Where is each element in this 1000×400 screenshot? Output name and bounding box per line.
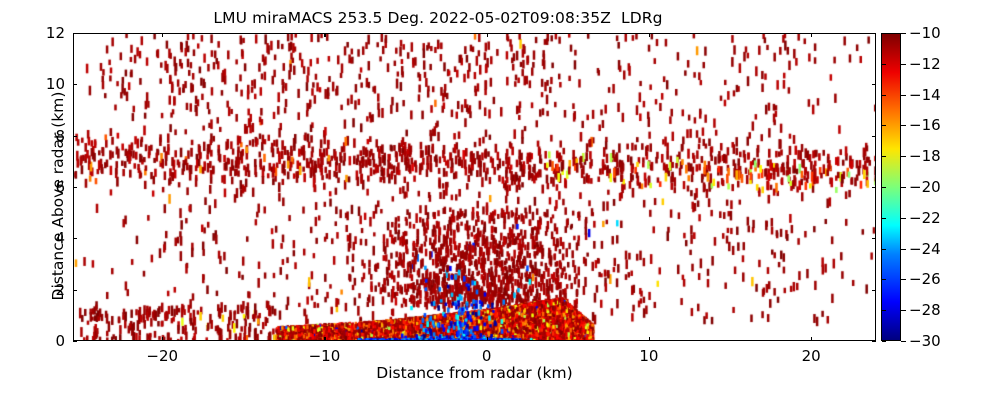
y-tick-mark	[73, 238, 77, 239]
x-tick-label: −10	[309, 347, 341, 365]
radar-rhi-figure: LMU miraMACS 253.5 Deg. 2022-05-02T09:08…	[0, 0, 1000, 400]
x-tick-mark	[324, 337, 325, 341]
colorbar-tick-label: −26	[909, 270, 941, 288]
y-tick-label: 12	[25, 24, 65, 42]
colorbar-tick-mark-outer	[901, 310, 906, 311]
y-tick-mark	[73, 136, 77, 137]
y-tick-mark	[73, 187, 77, 188]
x-tick-label: 10	[639, 347, 658, 365]
y-tick-mark-right	[872, 33, 876, 34]
colorbar-tick-label: −16	[909, 116, 941, 134]
colorbar-tick-label: −18	[909, 147, 941, 165]
colorbar-tick-mark	[882, 279, 886, 280]
colorbar-tick-mark-outer	[901, 249, 906, 250]
colorbar-tick-mark-outer	[901, 33, 906, 34]
y-tick-mark	[73, 290, 77, 291]
y-tick-mark-right	[872, 136, 876, 137]
y-tick-mark	[73, 84, 77, 85]
colorbar-tick-mark-outer	[901, 341, 906, 342]
colorbar-tick-mark-outer	[901, 187, 906, 188]
colorbar-tick-mark-outer	[901, 279, 906, 280]
colorbar-tick-mark	[882, 156, 886, 157]
colorbar-tick-label: −30	[909, 332, 941, 350]
colorbar-tick-label: −12	[909, 55, 941, 73]
colorbar-tick-label: −28	[909, 301, 941, 319]
x-tick-mark	[487, 337, 488, 341]
x-tick-mark	[162, 337, 163, 341]
x-tick-mark-top	[649, 33, 650, 37]
x-tick-label: 20	[802, 347, 821, 365]
colorbar-tick-label: −10	[909, 24, 941, 42]
scatter-data-canvas	[74, 34, 876, 341]
colorbar-tick-mark-outer	[901, 125, 906, 126]
y-axis-label: Distance Above radar (km)	[49, 42, 67, 350]
colorbar-tick-label: −24	[909, 240, 941, 258]
x-tick-mark-top	[487, 33, 488, 37]
y-tick-mark-right	[872, 238, 876, 239]
x-tick-mark	[811, 337, 812, 341]
colorbar-tick-mark	[882, 249, 886, 250]
y-tick-mark	[73, 33, 77, 34]
colorbar-tick-mark	[882, 64, 886, 65]
colorbar-tick-mark-outer	[901, 218, 906, 219]
x-tick-label: 0	[482, 347, 492, 365]
colorbar-tick-mark	[882, 218, 886, 219]
y-tick-mark-right	[872, 187, 876, 188]
page-title: LMU miraMACS 253.5 Deg. 2022-05-02T09:08…	[0, 9, 876, 27]
colorbar-tick-mark	[882, 310, 886, 311]
x-tick-mark-top	[811, 33, 812, 37]
x-tick-mark-top	[324, 33, 325, 37]
x-tick-mark	[649, 337, 650, 341]
y-tick-mark-right	[872, 341, 876, 342]
colorbar-tick-mark	[882, 125, 886, 126]
y-tick-mark-right	[872, 84, 876, 85]
y-tick-mark-right	[872, 290, 876, 291]
plot-area	[73, 33, 876, 341]
colorbar-tick-mark	[882, 95, 886, 96]
colorbar-tick-mark	[882, 33, 886, 34]
x-tick-label: −20	[146, 347, 178, 365]
x-tick-mark-top	[162, 33, 163, 37]
colorbar-tick-label: −20	[909, 178, 941, 196]
x-axis-label: Distance from radar (km)	[73, 364, 876, 382]
colorbar-tick-mark-outer	[901, 64, 906, 65]
y-tick-mark	[73, 341, 77, 342]
colorbar-tick-mark-outer	[901, 95, 906, 96]
colorbar-tick-mark	[882, 187, 886, 188]
colorbar-tick-mark-outer	[901, 156, 906, 157]
colorbar-tick-label: −22	[909, 209, 941, 227]
colorbar-tick-mark	[882, 341, 886, 342]
colorbar-tick-label: −14	[909, 86, 941, 104]
